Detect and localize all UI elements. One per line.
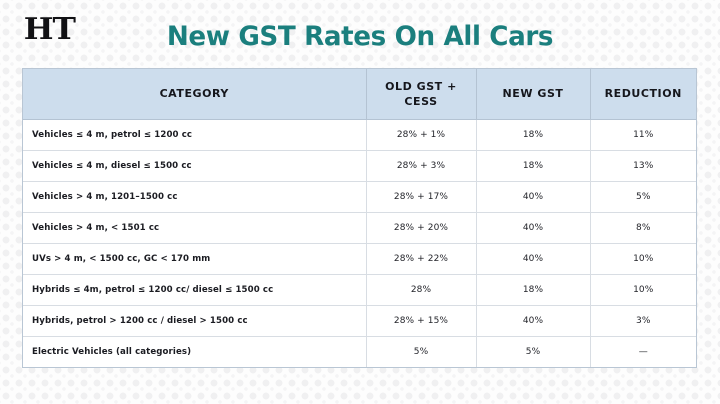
cell-reduction: 10% [590,243,696,274]
cell-category: Hybrids, petrol > 1200 cc / diesel > 150… [23,305,366,336]
cell-category: Electric Vehicles (all categories) [23,336,366,367]
cell-category: Vehicles > 4 m, 1201–1500 cc [23,181,366,212]
cell-reduction: 3% [590,305,696,336]
cell-old-gst: 5% [366,336,476,367]
table-header-row: CATEGORY OLD GST + CESS NEW GST REDUCTIO… [23,69,696,119]
cell-old-gst: 28% + 1% [366,119,476,150]
cell-old-gst: 28% + 20% [366,212,476,243]
table-row: Electric Vehicles (all categories) 5% 5%… [23,336,696,367]
cell-reduction: 5% [590,181,696,212]
cell-new-gst: 18% [476,274,590,305]
cell-old-gst: 28% + 22% [366,243,476,274]
cell-new-gst: 40% [476,181,590,212]
infographic-page: HT New GST Rates On All Cars CATEGORY OL… [0,0,720,404]
table-row: Vehicles > 4 m, < 1501 cc 28% + 20% 40% … [23,212,696,243]
cell-new-gst: 40% [476,212,590,243]
cell-old-gst: 28% + 3% [366,150,476,181]
cell-old-gst: 28% [366,274,476,305]
cell-reduction: 11% [590,119,696,150]
cell-new-gst: 40% [476,305,590,336]
cell-new-gst: 18% [476,150,590,181]
table-body: Vehicles ≤ 4 m, petrol ≤ 1200 cc 28% + 1… [23,119,696,367]
cell-reduction: 8% [590,212,696,243]
gst-rates-table: CATEGORY OLD GST + CESS NEW GST REDUCTIO… [23,69,696,367]
page-header: HT New GST Rates On All Cars [0,0,720,62]
table-row: Vehicles ≤ 4 m, petrol ≤ 1200 cc 28% + 1… [23,119,696,150]
column-header-category: CATEGORY [23,69,366,119]
gst-rates-table-container: CATEGORY OLD GST + CESS NEW GST REDUCTIO… [22,68,697,368]
cell-category: Vehicles > 4 m, < 1501 cc [23,212,366,243]
cell-reduction: 10% [590,274,696,305]
cell-reduction: — [590,336,696,367]
cell-category: Vehicles ≤ 4 m, petrol ≤ 1200 cc [23,119,366,150]
table-row: Vehicles > 4 m, 1201–1500 cc 28% + 17% 4… [23,181,696,212]
table-row: Vehicles ≤ 4 m, diesel ≤ 1500 cc 28% + 3… [23,150,696,181]
cell-reduction: 13% [590,150,696,181]
cell-category: Hybrids ≤ 4m, petrol ≤ 1200 cc/ diesel ≤… [23,274,366,305]
cell-new-gst: 18% [476,119,590,150]
table-row: Hybrids ≤ 4m, petrol ≤ 1200 cc/ diesel ≤… [23,274,696,305]
cell-new-gst: 40% [476,243,590,274]
cell-old-gst: 28% + 15% [366,305,476,336]
column-header-reduction: REDUCTION [590,69,696,119]
table-row: UVs > 4 m, < 1500 cc, GC < 170 mm 28% + … [23,243,696,274]
cell-new-gst: 5% [476,336,590,367]
column-header-new-gst: NEW GST [476,69,590,119]
page-title: New GST Rates On All Cars [11,22,709,52]
cell-category: Vehicles ≤ 4 m, diesel ≤ 1500 cc [23,150,366,181]
column-header-old-gst: OLD GST + CESS [366,69,476,119]
table-row: Hybrids, petrol > 1200 cc / diesel > 150… [23,305,696,336]
table-header: CATEGORY OLD GST + CESS NEW GST REDUCTIO… [23,69,696,119]
cell-old-gst: 28% + 17% [366,181,476,212]
cell-category: UVs > 4 m, < 1500 cc, GC < 170 mm [23,243,366,274]
